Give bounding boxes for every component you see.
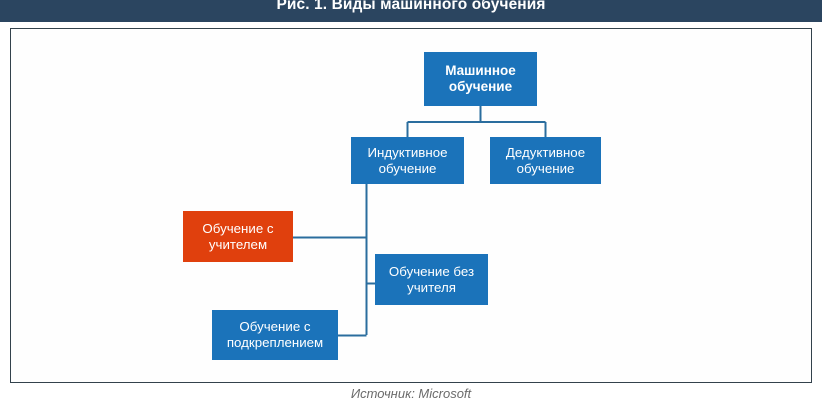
node-line-2: обучение xyxy=(379,161,437,176)
node-inductive-learning[interactable]: Индуктивное обучение xyxy=(351,137,464,184)
figure-header-bar: Рис. 1. Виды машинного обучения xyxy=(0,0,822,22)
node-line-2: подкреплением xyxy=(227,335,323,350)
node-deductive-learning-label: Дедуктивное обучение xyxy=(506,145,585,176)
node-unsupervised-learning-label: Обучение без учителя xyxy=(389,264,474,295)
node-line-2: учителя xyxy=(407,280,456,295)
node-machine-learning-label: Машинное обучение xyxy=(445,63,516,95)
node-supervised-learning-label: Обучение с учителем xyxy=(202,221,273,252)
node-line-2: обучение xyxy=(517,161,575,176)
node-line-1: Дедуктивное xyxy=(506,145,585,160)
node-line-1: Обучение без xyxy=(389,264,474,279)
node-reinforcement-learning-label: Обучение с подкреплением xyxy=(227,319,323,350)
node-machine-learning[interactable]: Машинное обучение xyxy=(424,52,537,106)
node-line-1: Обучение с xyxy=(239,319,310,334)
node-unsupervised-learning[interactable]: Обучение без учителя xyxy=(375,254,488,305)
node-line-1: Машинное xyxy=(445,63,516,78)
node-supervised-learning[interactable]: Обучение с учителем xyxy=(183,211,293,262)
node-line-2: обучение xyxy=(449,79,512,94)
figure-frame xyxy=(10,28,812,383)
node-reinforcement-learning[interactable]: Обучение с подкреплением xyxy=(212,310,338,360)
node-deductive-learning[interactable]: Дедуктивное обучение xyxy=(490,137,601,184)
figure-page: Рис. 1. Виды машинного обучения xyxy=(0,0,822,400)
node-inductive-learning-label: Индуктивное обучение xyxy=(368,145,448,176)
figure-title: Рис. 1. Виды машинного обучения xyxy=(0,0,822,15)
node-line-1: Индуктивное xyxy=(368,145,448,160)
node-line-1: Обучение с xyxy=(202,221,273,236)
node-line-2: учителем xyxy=(209,237,267,252)
source-note: Источник: Microsoft xyxy=(0,386,822,401)
